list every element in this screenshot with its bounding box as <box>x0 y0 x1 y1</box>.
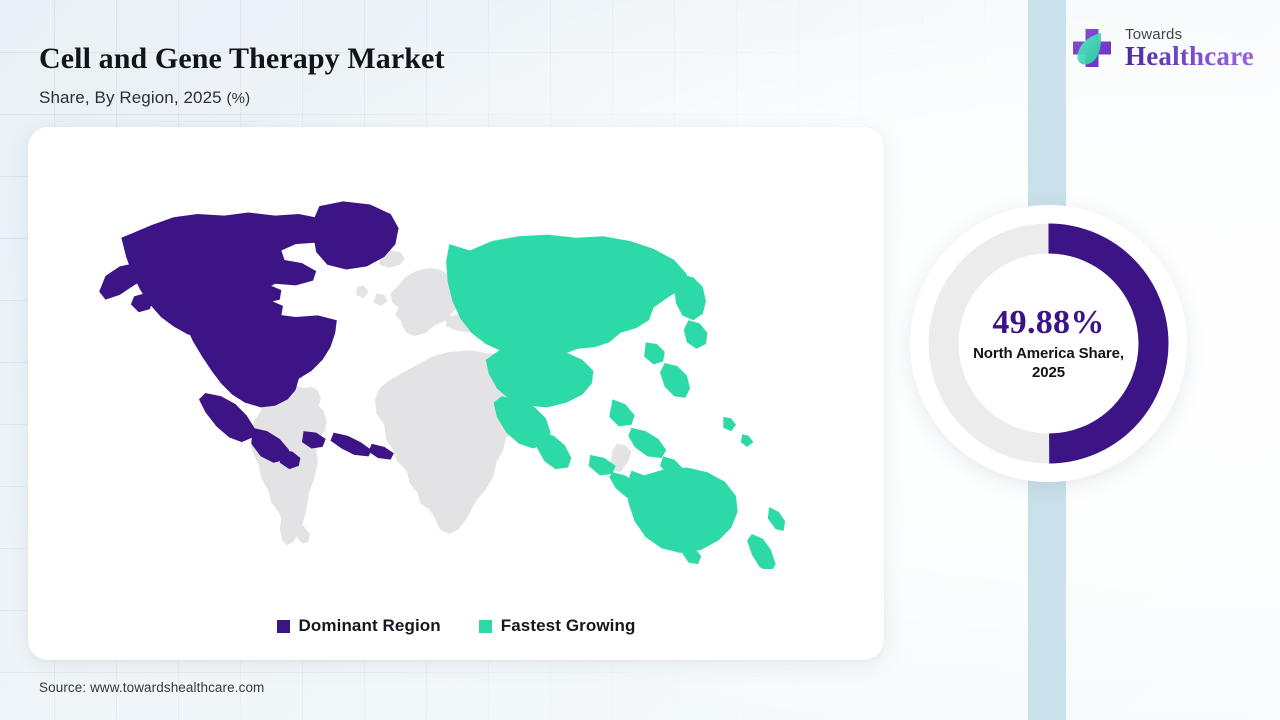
page-subtitle-unit: (%) <box>227 90 251 107</box>
logo-wordmark: Towards Healthcare <box>1125 27 1254 70</box>
map-legend: Dominant Region Fastest Growing <box>28 616 884 636</box>
map-card: Dominant Region Fastest Growing <box>28 127 884 660</box>
page-subtitle-main: Share, By Region, 2025 <box>39 88 227 107</box>
legend-item-dominant-region[interactable]: Dominant Region <box>277 616 441 636</box>
logo-line-towards: Towards <box>1125 27 1254 42</box>
legend-item-fastest-growing[interactable]: Fastest Growing <box>479 616 636 636</box>
brand-logo[interactable]: Towards Healthcare <box>1068 24 1254 72</box>
map-region-asia-pacific <box>446 235 785 569</box>
world-map[interactable] <box>58 149 858 569</box>
legend-label-fastest-growing: Fastest Growing <box>501 616 636 636</box>
page-subtitle: Share, By Region, 2025 (%) <box>39 88 250 108</box>
source-note: Source: www.towardshealthcare.com <box>39 680 264 695</box>
cross-leaf-icon <box>1068 24 1116 72</box>
fastest-growing-swatch <box>479 620 492 633</box>
donut-chart-svg <box>910 205 1187 482</box>
map-region-north-america <box>99 201 398 469</box>
dominant-region-swatch <box>277 620 290 633</box>
logo-line-healthcare: Healthcare <box>1125 43 1254 70</box>
legend-label-dominant-region: Dominant Region <box>299 616 441 636</box>
north-america-share-donut[interactable]: 49.88% North America Share, 2025 <box>910 205 1187 482</box>
page-title: Cell and Gene Therapy Market <box>39 42 445 76</box>
